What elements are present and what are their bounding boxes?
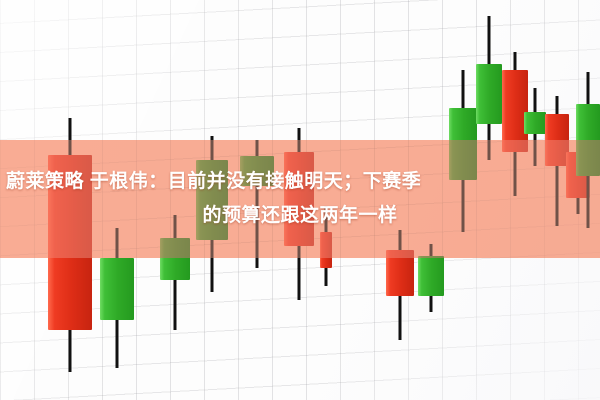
chart-banner-image: 蔚莱策略 于根伟：目前并没有接触明天；下赛季 的预算还跟这两年一样	[0, 0, 600, 400]
candlestick	[476, 16, 502, 160]
caption-line-2: 的预算还跟这两年一样	[202, 199, 397, 233]
candlestick-body-up	[100, 258, 134, 320]
candlestick-body-up	[418, 256, 444, 296]
caption-text: 蔚莱策略 于根伟：目前并没有接触明天；下赛季 的预算还跟这两年一样	[0, 140, 600, 258]
candlestick-body-up	[476, 64, 502, 124]
candlestick-body-up	[524, 112, 546, 134]
caption-line-1: 蔚莱策略 于根伟：目前并没有接触明天；下赛季	[0, 165, 421, 199]
